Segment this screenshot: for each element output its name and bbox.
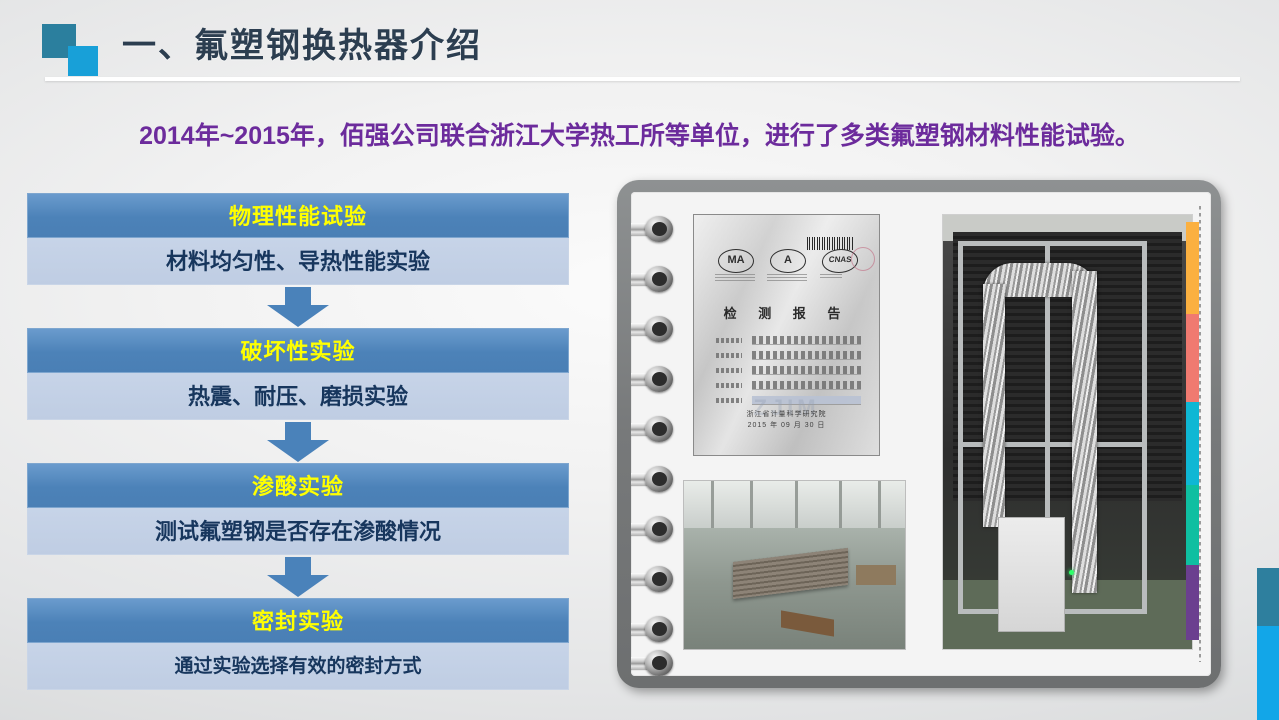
- status-led-icon: [1069, 570, 1074, 575]
- notebook-page: MA A CNAS 检 测 报 告: [631, 192, 1211, 676]
- cnas-mark-caption: [820, 274, 842, 279]
- spiral-ring-icon: [631, 366, 677, 392]
- spiral-ring-icon: [631, 466, 677, 492]
- spiral-binding: [631, 192, 679, 676]
- page-title: 一、氟塑钢换热器介绍: [122, 18, 482, 67]
- flow-arrow-2: [27, 420, 569, 463]
- color-bar-segment-5: [1186, 565, 1199, 640]
- document-footer: 浙江省计量科学研究院 2015 年 09 月 30 日: [694, 409, 879, 431]
- flow-step-1-title: 物理性能试验: [27, 193, 569, 238]
- spiral-ring-icon: [631, 316, 677, 342]
- factory-column: [711, 481, 714, 531]
- flow-step-3[interactable]: 渗酸实验 测试氟塑钢是否存在渗酸情况: [27, 463, 569, 555]
- color-bar-segment-3: [1186, 402, 1199, 486]
- color-bar-segment-4: [1186, 485, 1199, 564]
- a-mark-icon: A: [770, 249, 806, 273]
- flow-step-3-title: 渗酸实验: [27, 463, 569, 508]
- flow-step-2-desc: 热震、耐压、磨损实验: [27, 373, 569, 420]
- factory-scene: [684, 481, 905, 649]
- document-title: 检 测 报 告: [694, 303, 879, 322]
- process-flow: 物理性能试验 材料均匀性、导热性能实验 破坏性实验 热震、耐压、磨损实验 渗酸实…: [27, 193, 569, 690]
- flow-step-4-title: 密封实验: [27, 598, 569, 643]
- document-row: [716, 378, 861, 393]
- flow-step-4[interactable]: 密封实验 通过实验选择有效的密封方式: [27, 598, 569, 690]
- a-mark-caption: [767, 274, 807, 282]
- document-issuer: 浙江省计量科学研究院: [694, 409, 879, 420]
- photo-test-report[interactable]: MA A CNAS 检 测 报 告: [693, 214, 880, 456]
- spiral-ring-icon: [631, 566, 677, 592]
- barcode-icon: [807, 237, 853, 250]
- factory-crate: [856, 565, 896, 585]
- factory-column: [750, 481, 753, 531]
- perforation-line: [1199, 206, 1201, 662]
- spiral-ring-icon: [631, 616, 677, 642]
- photo-test-rig[interactable]: [942, 214, 1193, 650]
- slide-subtitle: 2014年~2015年，佰强公司联合浙江大学热工所等单位，进行了多类氟塑钢材料性…: [0, 116, 1279, 152]
- header-divider: [45, 77, 1240, 81]
- color-bar-segment-1: [1186, 222, 1199, 314]
- flow-arrow-1: [27, 285, 569, 328]
- flow-step-3-desc: 测试氟塑钢是否存在渗酸情况: [27, 508, 569, 555]
- color-bar-segment-2: [1186, 314, 1199, 402]
- ma-mark-icon: MA: [718, 249, 754, 273]
- accent-block-blue: [1257, 626, 1279, 720]
- spiral-ring-icon: [631, 216, 677, 242]
- flow-step-4-desc: 通过实验选择有效的密封方式: [27, 643, 569, 690]
- document-date: 2015 年 09 月 30 日: [694, 420, 879, 431]
- photo-factory-tube-bundles[interactable]: [683, 480, 906, 650]
- document-row: [716, 333, 861, 348]
- red-seal-stamp-icon: [851, 247, 875, 271]
- arrow-down-icon: [263, 557, 333, 597]
- arrow-down-icon: [263, 287, 333, 327]
- flow-step-2-title: 破坏性实验: [27, 328, 569, 373]
- factory-column: [839, 481, 842, 531]
- accent-block-teal: [1257, 568, 1279, 626]
- certification-marks: MA A CNAS: [712, 249, 862, 283]
- color-legend-bar: [1186, 222, 1199, 640]
- spiral-ring-icon: [631, 650, 677, 676]
- arrow-down-icon: [263, 422, 333, 462]
- insulated-duct-right: [1072, 271, 1097, 592]
- insulated-duct-left: [983, 284, 1005, 527]
- spiral-ring-icon: [631, 266, 677, 292]
- rig-control-cabinet: [998, 517, 1065, 632]
- decor-square-blue-icon: [68, 46, 98, 76]
- document-row: [716, 363, 861, 378]
- factory-column: [878, 481, 881, 531]
- flow-step-1-desc: 材料均匀性、导热性能实验: [27, 238, 569, 285]
- slide-canvas: 一、氟塑钢换热器介绍 2014年~2015年，佰强公司联合浙江大学热工所等单位，…: [0, 0, 1279, 720]
- document-row: [716, 348, 861, 363]
- factory-column: [795, 481, 798, 531]
- test-report-document: MA A CNAS 检 测 报 告: [694, 215, 879, 455]
- spiral-ring-icon: [631, 416, 677, 442]
- flow-step-2[interactable]: 破坏性实验 热震、耐压、磨损实验: [27, 328, 569, 420]
- flow-step-1[interactable]: 物理性能试验 材料均匀性、导热性能实验: [27, 193, 569, 285]
- flow-arrow-3: [27, 555, 569, 598]
- ma-mark-caption: [715, 274, 755, 282]
- notebook-frame: MA A CNAS 检 测 报 告: [617, 180, 1221, 688]
- test-rig-scene: [943, 215, 1192, 649]
- spiral-ring-icon: [631, 516, 677, 542]
